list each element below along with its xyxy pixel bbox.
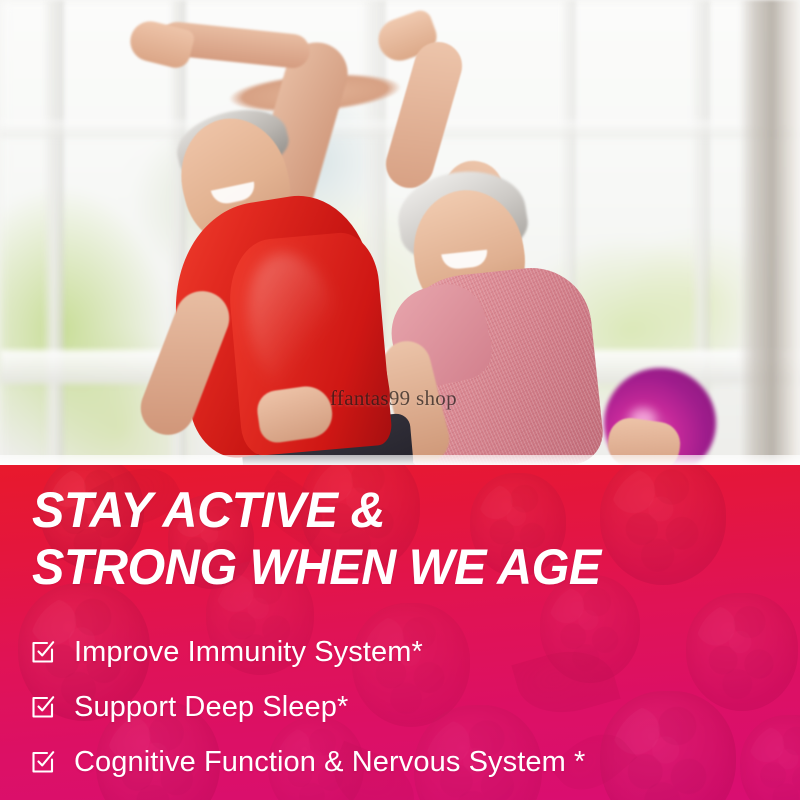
window-mullion [42, 0, 64, 470]
checkbox-checked-icon [30, 639, 56, 665]
product-promo-poster: ffantas99 shop STAY ACTIVE & S [0, 0, 800, 800]
checkbox-checked-icon [30, 749, 56, 775]
checkbox-checked-icon [30, 694, 56, 720]
list-item: Support Deep Sleep* [30, 683, 790, 731]
benefits-list: Improve Immunity System* Support Deep Sl… [30, 628, 790, 793]
list-item-label: Support Deep Sleep* [74, 691, 348, 724]
photo-banner-divider [0, 455, 800, 465]
hero-photo: ffantas99 shop [0, 0, 800, 470]
list-item: Cognitive Function & Nervous System * [30, 738, 790, 786]
list-item-label: Cognitive Function & Nervous System * [74, 746, 585, 779]
list-item-label: Improve Immunity System* [74, 636, 423, 669]
list-item: Improve Immunity System* [30, 628, 790, 676]
wall-column [738, 0, 800, 470]
page-title: STAY ACTIVE & STRONG WHEN WE AGE [32, 482, 750, 596]
